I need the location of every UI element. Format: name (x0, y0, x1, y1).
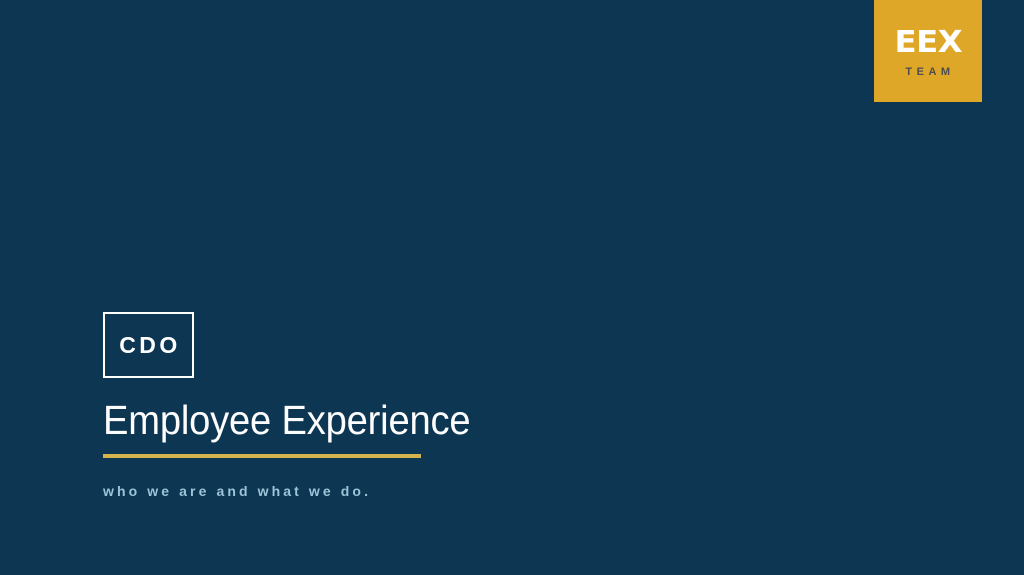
page-title: Employee Experience (103, 400, 470, 441)
title-block: CDO Employee Experience who we are and w… (103, 312, 498, 498)
cdo-label: CDO (119, 334, 181, 357)
team-wordmark: TEAM (905, 67, 954, 78)
eex-team-logo-badge: EEX TEAM (874, 0, 982, 102)
gold-divider (103, 454, 421, 458)
eex-wordmark: EEX (894, 28, 962, 58)
page-subtitle: who we are and what we do. (103, 484, 498, 498)
cdo-badge: CDO (103, 312, 194, 378)
title-slide: EEX TEAM CDO Employee Experience who we … (0, 0, 1024, 575)
